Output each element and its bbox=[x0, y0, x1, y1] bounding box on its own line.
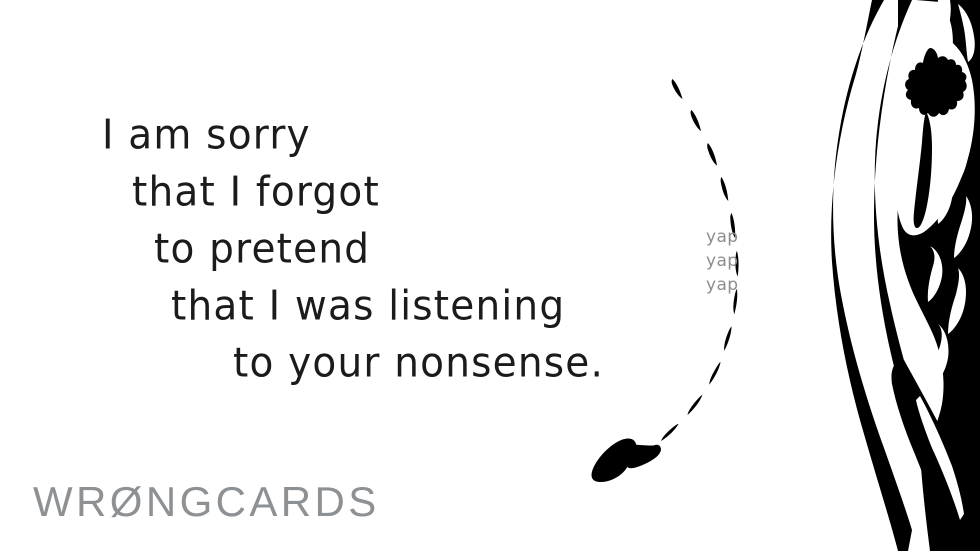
yap-line-2: yap bbox=[706, 249, 766, 273]
message-line-2: that I forgot bbox=[132, 172, 380, 213]
yap-line-1: yap bbox=[706, 225, 766, 249]
wrongcards-logo[interactable]: WRØNGCARDS bbox=[33, 481, 380, 523]
yap-line-3: yap bbox=[706, 273, 766, 297]
card-message: I am sorry that I forgot to pretend that… bbox=[0, 0, 620, 420]
message-line-1: I am sorry bbox=[102, 115, 311, 156]
message-line-5: to your nonsense. bbox=[233, 343, 604, 384]
message-line-3: to pretend bbox=[154, 229, 370, 270]
woman-stencil-illustration bbox=[780, 0, 980, 551]
yap-sound-effect: yap yap yap bbox=[706, 225, 766, 297]
message-line-4: that I was listening bbox=[171, 286, 565, 327]
ecard-canvas: I am sorry that I forgot to pretend that… bbox=[0, 0, 980, 551]
